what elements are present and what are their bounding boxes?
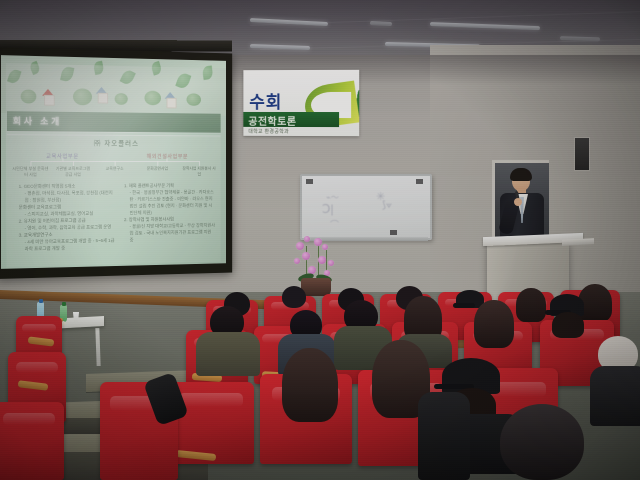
seat[interactable]	[0, 402, 64, 480]
lecture-hall-photo: 회사 소개 ㈜ 자오플러스 교육사업부문 해외건설사업부문 시민단체 부설 문화…	[0, 0, 640, 480]
wall-banner: 수회 공전학토론 대학교 환경공학과	[243, 70, 359, 136]
presenter-hair	[510, 168, 532, 181]
slide-subtitle: ㈜ 자오플러스	[7, 138, 221, 149]
bullet-detail: - 한국 · 몽골정부간 협약체결 - 몽골간 · 카자흐스탄 · 키르기스스탄…	[118, 189, 215, 217]
slide-header-illustration	[1, 55, 226, 116]
bullet-detail: - 4세 미만 유아교육프로그램 개발 중 - 5~6세 1급 과학 프로그램 …	[13, 237, 115, 253]
bullet-detail: - 스피치교실, 과학체험교실, 영어교실	[13, 210, 115, 218]
slide-title: 회사 소개	[13, 114, 62, 127]
org-node: 문화공연사업	[140, 165, 175, 178]
slide-left-column: 1. GEO문화센터 직영점 5개소 - 평촌점, 마석점, 다사점, 목포점,…	[13, 182, 115, 252]
banner-title: 수회	[249, 88, 282, 113]
presentation-slide: 회사 소개 ㈜ 자오플러스 교육사업부문 해외건설사업부문 시민단체 부설 문화…	[1, 55, 226, 269]
org-node: 기관별 교육프로그램 공급 사업	[55, 165, 91, 178]
wall-speaker	[574, 137, 590, 171]
banner-footnote: 대학교 환경공학과	[248, 128, 289, 135]
bullet-detail: - 몽골/신 지방 대학교/고등학교 - 무상 장학지원사업 검토 - 국내 노…	[118, 222, 215, 244]
org-node: 교육연구소	[97, 165, 133, 178]
slide-right-column: 1. 해외 플랜트공사부문 기획 - 한국 · 몽골정부간 협약체결 - 몽골간…	[118, 182, 215, 244]
whiteboard: ⌁〜 Ↄ| ✳︎ ⟆⟇ ⌒	[300, 174, 432, 240]
projection-screen: 회사 소개 ㈜ 자오플러스 교육사업부문 해외건설사업부문 시민단체 부설 문화…	[0, 47, 232, 279]
org-node: 시민단체 부설 문화센터 사업	[12, 165, 49, 178]
bullet-detail: - 평촌점, 마석점, 다사점, 목포점, 강천점 (대전지점 : 창원점, 부…	[13, 189, 115, 204]
presenter-hand	[514, 198, 522, 206]
slide-body: ㈜ 자오플러스 교육사업부문 해외건설사업부문 시민단체 부설 문화센터 사업 …	[7, 134, 221, 267]
banner-subtitle: 공전학토론	[248, 113, 296, 128]
org-node: 장학사업 지원봉사 사업	[182, 165, 216, 177]
